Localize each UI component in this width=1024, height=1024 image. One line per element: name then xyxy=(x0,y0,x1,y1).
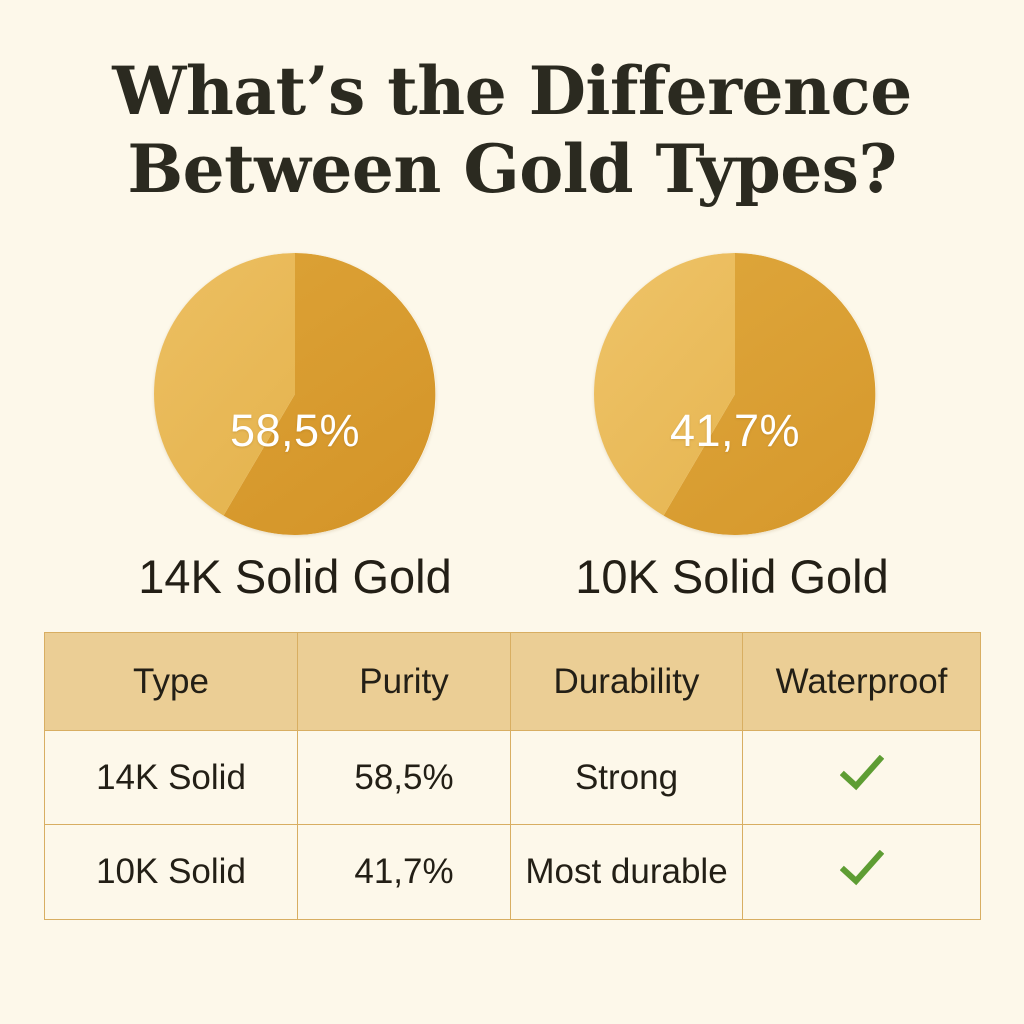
pie-graphic-14k xyxy=(154,253,436,535)
pie-caption-group: 14K Solid Gold 10K Solid Gold xyxy=(0,548,1024,610)
pie-chart-14k: 58,5% xyxy=(154,253,436,535)
table-header-waterproof: Waterproof xyxy=(743,633,981,731)
table-header-type: Type xyxy=(45,633,298,731)
comparison-table: Type Purity Durability Waterproof 14K So… xyxy=(44,632,981,920)
pie-value-label-14k: 58,5% xyxy=(154,405,436,457)
cell-waterproof-10k xyxy=(743,825,981,920)
pie-chart-group: 58,5% xyxy=(0,253,1024,535)
table-header-purity: Purity xyxy=(298,633,511,731)
cell-waterproof-14k xyxy=(743,731,981,825)
pie-graphic-10k xyxy=(594,253,876,535)
pie-chart-10k: 41,7% xyxy=(594,253,876,535)
page-title-line-1: What’s the Difference xyxy=(0,52,1024,130)
cell-type-14k: 14K Solid xyxy=(45,731,298,825)
pie-caption-10k: 10K Solid Gold xyxy=(512,548,952,606)
page-title: What’s the Difference Between Gold Types… xyxy=(0,52,1024,208)
check-icon xyxy=(840,755,884,791)
pie-value-label-10k: 41,7% xyxy=(594,405,876,457)
table-header-durability: Durability xyxy=(511,633,743,731)
cell-type-10k: 10K Solid xyxy=(45,825,298,920)
table-row: 14K Solid 58,5% Strong xyxy=(45,731,981,825)
table-row: 10K Solid 41,7% Most durable xyxy=(45,825,981,920)
table-header-row: Type Purity Durability Waterproof xyxy=(45,633,981,731)
cell-purity-10k: 41,7% xyxy=(298,825,511,920)
pie-caption-14k: 14K Solid Gold xyxy=(75,548,515,606)
page-title-line-2: Between Gold Types? xyxy=(0,130,1024,208)
cell-durability-10k: Most durable xyxy=(511,825,743,920)
gold-types-infographic: What’s the Difference Between Gold Types… xyxy=(0,0,1024,1024)
cell-purity-14k: 58,5% xyxy=(298,731,511,825)
cell-durability-14k: Strong xyxy=(511,731,743,825)
check-icon xyxy=(840,850,884,886)
